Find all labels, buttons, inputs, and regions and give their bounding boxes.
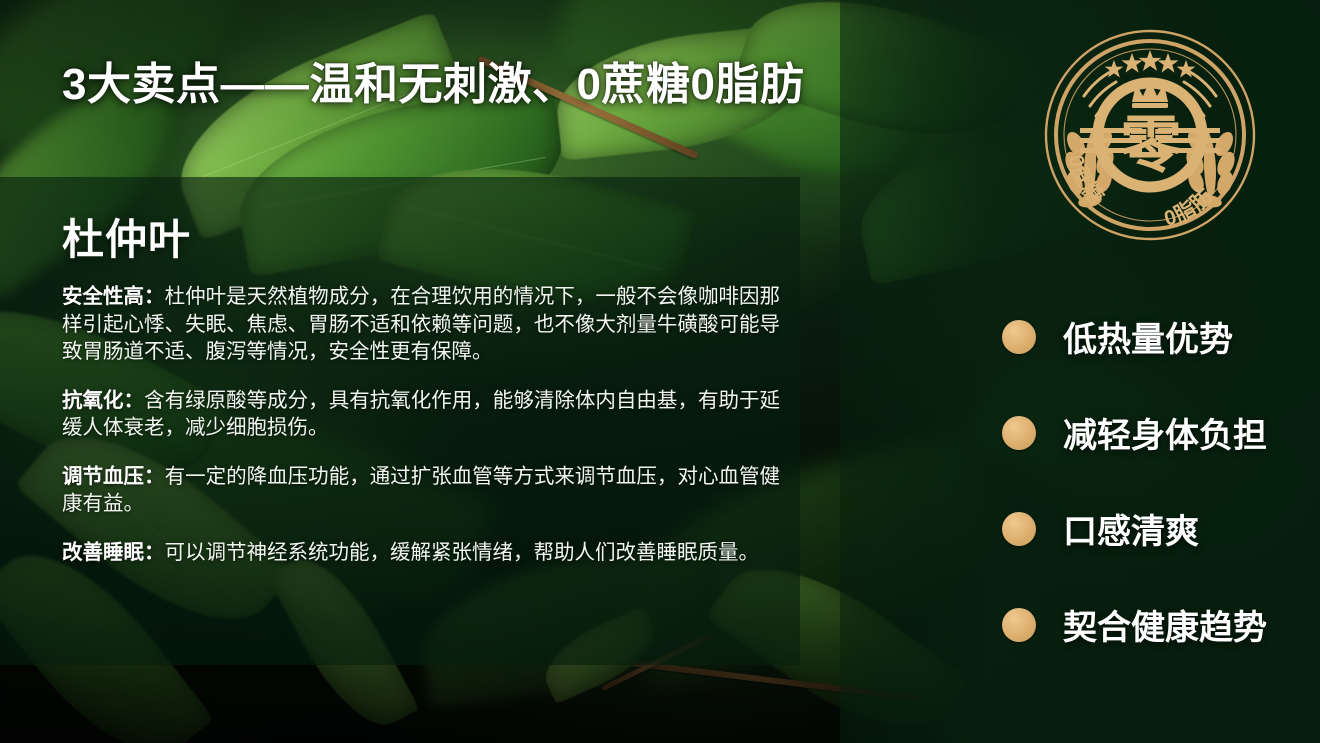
bullet-dot-icon	[1002, 512, 1036, 546]
benefit-paragraph: 调节血压：有一定的降血压功能，通过扩张血管等方式来调节血压，对心血管健康有益。	[62, 463, 780, 518]
ingredient-title: 杜仲叶	[62, 206, 191, 267]
benefit-label: 调节血压：	[62, 465, 165, 488]
selling-point-label: 口感清爽	[1063, 504, 1199, 553]
badge-stars-icon	[1105, 50, 1196, 78]
page-title: 3大卖点——温和无刺激、0蔗糖0脂肪	[62, 48, 804, 112]
benefit-paragraph: 抗氧化：含有绿原酸等成分，具有抗氧化作用，能够清除体内自由基，有助于延缓人体衰老…	[62, 387, 780, 442]
list-item: 口感清爽	[1002, 492, 1302, 588]
list-item: 低热量优势	[1002, 300, 1302, 396]
slide-root: 3大卖点——温和无刺激、0蔗糖0脂肪 杜仲叶 安全性高：杜仲叶是天然植物成分，在…	[0, 0, 1320, 743]
bullet-dot-icon	[1002, 320, 1036, 354]
selling-point-label: 契合健康趋势	[1063, 600, 1267, 649]
selling-point-list: 低热量优势 减轻身体负担 口感清爽 契合健康趋势	[1002, 300, 1302, 684]
benefit-label: 抗氧化：	[62, 389, 144, 412]
benefit-text: 可以调节神经系统功能，缓解紧张情绪，帮助人们改善睡眠质量。	[165, 541, 760, 564]
benefit-paragraph: 安全性高：杜仲叶是天然植物成分，在合理饮用的情况下，一般不会像咖啡因那样引起心悸…	[62, 283, 780, 366]
benefit-text: 杜仲叶是天然植物成分，在合理饮用的情况下，一般不会像咖啡因那样引起心悸、失眠、焦…	[62, 285, 780, 363]
benefit-text: 含有绿原酸等成分，具有抗氧化作用，能够清除体内自由基，有助于延缓人体衰老，减少细…	[62, 389, 780, 440]
selling-point-label: 低热量优势	[1063, 312, 1233, 361]
benefit-paragraph: 改善睡眠：可以调节神经系统功能，缓解紧张情绪，帮助人们改善睡眠质量。	[62, 539, 780, 567]
list-item: 契合健康趋势	[1002, 588, 1302, 684]
selling-point-label: 减轻身体负担	[1063, 408, 1267, 457]
benefit-label: 安全性高：	[62, 285, 165, 308]
bullet-dot-icon	[1002, 416, 1036, 450]
bullet-dot-icon	[1002, 608, 1036, 642]
benefit-text: 有一定的降血压功能，通过扩张血管等方式来调节血压，对心血管健康有益。	[62, 465, 780, 516]
benefit-label: 改善睡眠：	[62, 541, 165, 564]
list-item: 减轻身体负担	[1002, 396, 1302, 492]
zero-sugar-badge: 0蔗糖 0脂肪 零	[1040, 22, 1260, 247]
ingredient-benefit-list: 安全性高：杜仲叶是天然植物成分，在合理饮用的情况下，一般不会像咖啡因那样引起心悸…	[62, 283, 780, 566]
